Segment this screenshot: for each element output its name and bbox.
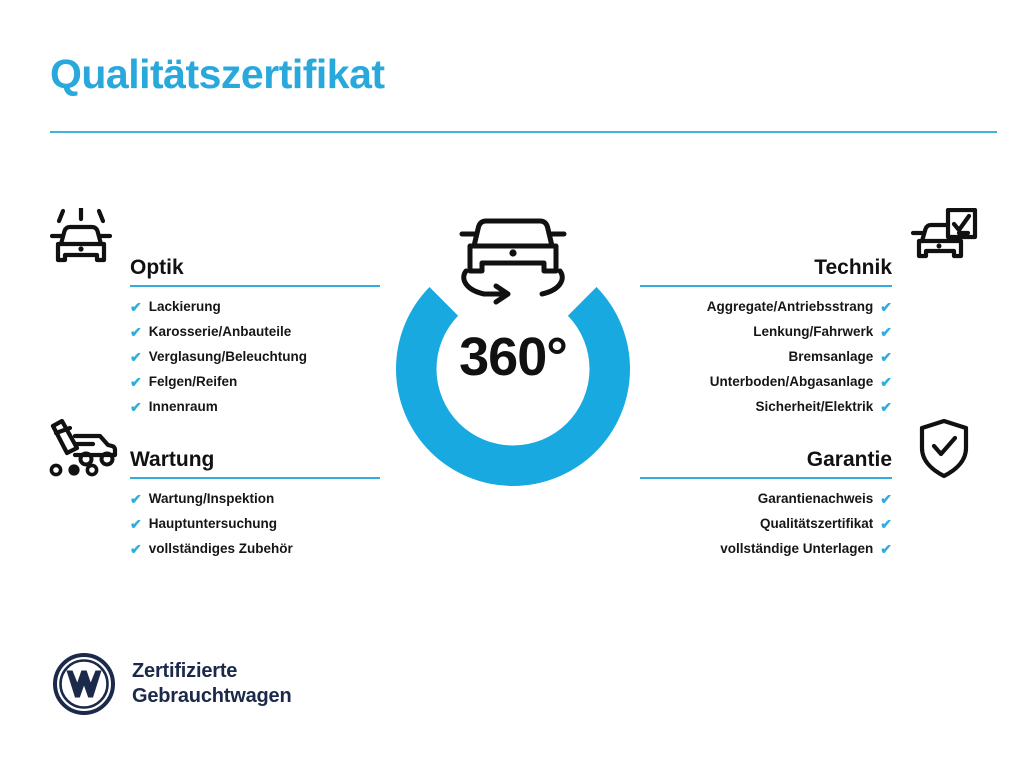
car-shine-icon — [45, 208, 117, 275]
list-item: Bremsanlage ✔ — [640, 350, 892, 364]
section-technik: Technik Aggregate/Antriebsstrang ✔ Lenku… — [640, 238, 892, 425]
section-garantie-header: Garantie — [640, 430, 892, 470]
section-garantie: Garantie Garantienachweis ✔ Qualitätszer… — [640, 430, 892, 567]
list-item-label: Verglasung/Beleuchtung — [149, 350, 307, 364]
page-title: Qualitätszertifikat — [50, 52, 385, 97]
list-item-label: Lackierung — [149, 300, 221, 314]
list-item: Sicherheit/Elektrik ✔ — [640, 400, 892, 414]
check-icon: ✔ — [130, 400, 142, 414]
list-item: Qualitätszertifikat ✔ — [640, 517, 892, 531]
list-item-label: Hauptuntersuchung — [149, 517, 277, 531]
footer-line-2: Gebrauchtwagen — [132, 684, 291, 709]
list-item: ✔ Felgen/Reifen — [130, 375, 380, 389]
list-item: ✔ Karosserie/Anbauteile — [130, 325, 380, 339]
section-optik-divider — [130, 285, 380, 287]
section-technik-divider — [640, 285, 892, 287]
section-wartung-divider — [130, 477, 380, 479]
car-service-pencil-icon — [45, 418, 119, 485]
section-optik: Optik ✔ Lackierung ✔ Karosserie/Anbautei… — [130, 238, 380, 425]
list-item: Lenkung/Fahrwerk ✔ — [640, 325, 892, 339]
section-garantie-title: Garantie — [640, 449, 892, 470]
gebrauchtwagen-check-badge: Gebrauchtwagen-Check 360° — [368, 196, 658, 496]
check-icon: ✔ — [130, 542, 142, 556]
section-wartung-list: ✔ Wartung/Inspektion ✔ Hauptuntersuchung… — [130, 492, 380, 556]
check-icon: ✔ — [130, 375, 142, 389]
check-icon: ✔ — [880, 325, 892, 339]
list-item: ✔ Hauptuntersuchung — [130, 517, 380, 531]
check-icon: ✔ — [880, 350, 892, 364]
footer-wordmark: Zertifizierte Gebrauchtwagen — [132, 659, 291, 709]
check-icon: ✔ — [880, 517, 892, 531]
section-optik-list: ✔ Lackierung ✔ Karosserie/Anbauteile ✔ V… — [130, 300, 380, 414]
footer-brand: Zertifizierte Gebrauchtwagen — [52, 652, 291, 716]
section-technik-list: Aggregate/Antriebsstrang ✔ Lenkung/Fahrw… — [640, 300, 892, 414]
list-item-label: Lenkung/Fahrwerk — [753, 325, 873, 339]
check-icon: ✔ — [880, 400, 892, 414]
section-wartung-title: Wartung — [130, 449, 214, 470]
list-item: ✔ Wartung/Inspektion — [130, 492, 380, 506]
list-item-label: vollständiges Zubehör — [149, 542, 293, 556]
check-icon: ✔ — [880, 492, 892, 506]
section-garantie-divider — [640, 477, 892, 479]
check-icon: ✔ — [130, 325, 142, 339]
list-item: Unterboden/Abgasanlage ✔ — [640, 375, 892, 389]
list-item: Aggregate/Antriebsstrang ✔ — [640, 300, 892, 314]
list-item-label: Unterboden/Abgasanlage — [710, 375, 874, 389]
volkswagen-logo — [52, 652, 116, 716]
check-icon: ✔ — [880, 542, 892, 556]
check-icon: ✔ — [880, 300, 892, 314]
list-item-label: Qualitätszertifikat — [760, 517, 873, 531]
list-item-label: Sicherheit/Elektrik — [755, 400, 873, 414]
car-checkbox-icon — [908, 208, 978, 275]
list-item: ✔ vollständiges Zubehör — [130, 542, 380, 556]
section-wartung: Wartung ✔ Wartung/Inspektion ✔ Hauptunte… — [130, 430, 380, 567]
shield-check-icon — [916, 418, 972, 485]
list-item-label: vollständige Unterlagen — [720, 542, 873, 556]
check-icon: ✔ — [130, 350, 142, 364]
list-item: vollständige Unterlagen ✔ — [640, 542, 892, 556]
list-item-label: Felgen/Reifen — [149, 375, 238, 389]
header-divider — [50, 131, 997, 133]
section-garantie-list: Garantienachweis ✔ Qualitätszertifikat ✔… — [640, 492, 892, 556]
section-optik-header: Optik — [130, 238, 380, 278]
car-rotate-360-icon — [462, 221, 564, 302]
section-optik-title: Optik — [130, 257, 184, 278]
check-icon: ✔ — [130, 492, 142, 506]
section-wartung-header: Wartung — [130, 430, 380, 470]
footer-line-1: Zertifizierte — [132, 659, 291, 684]
list-item: ✔ Innenraum — [130, 400, 380, 414]
list-item-label: Aggregate/Antriebsstrang — [707, 300, 874, 314]
list-item: ✔ Lackierung — [130, 300, 380, 314]
list-item: ✔ Verglasung/Beleuchtung — [130, 350, 380, 364]
list-item-label: Karosserie/Anbauteile — [149, 325, 292, 339]
list-item-label: Innenraum — [149, 400, 218, 414]
check-icon: ✔ — [130, 300, 142, 314]
check-icon: ✔ — [130, 517, 142, 531]
section-technik-header: Technik — [640, 238, 892, 278]
badge-center-value: 360° — [368, 330, 658, 384]
list-item: Garantienachweis ✔ — [640, 492, 892, 506]
list-item-label: Wartung/Inspektion — [149, 492, 275, 506]
section-technik-title: Technik — [640, 257, 892, 278]
list-item-label: Bremsanlage — [788, 350, 873, 364]
list-item-label: Garantienachweis — [758, 492, 874, 506]
check-icon: ✔ — [880, 375, 892, 389]
